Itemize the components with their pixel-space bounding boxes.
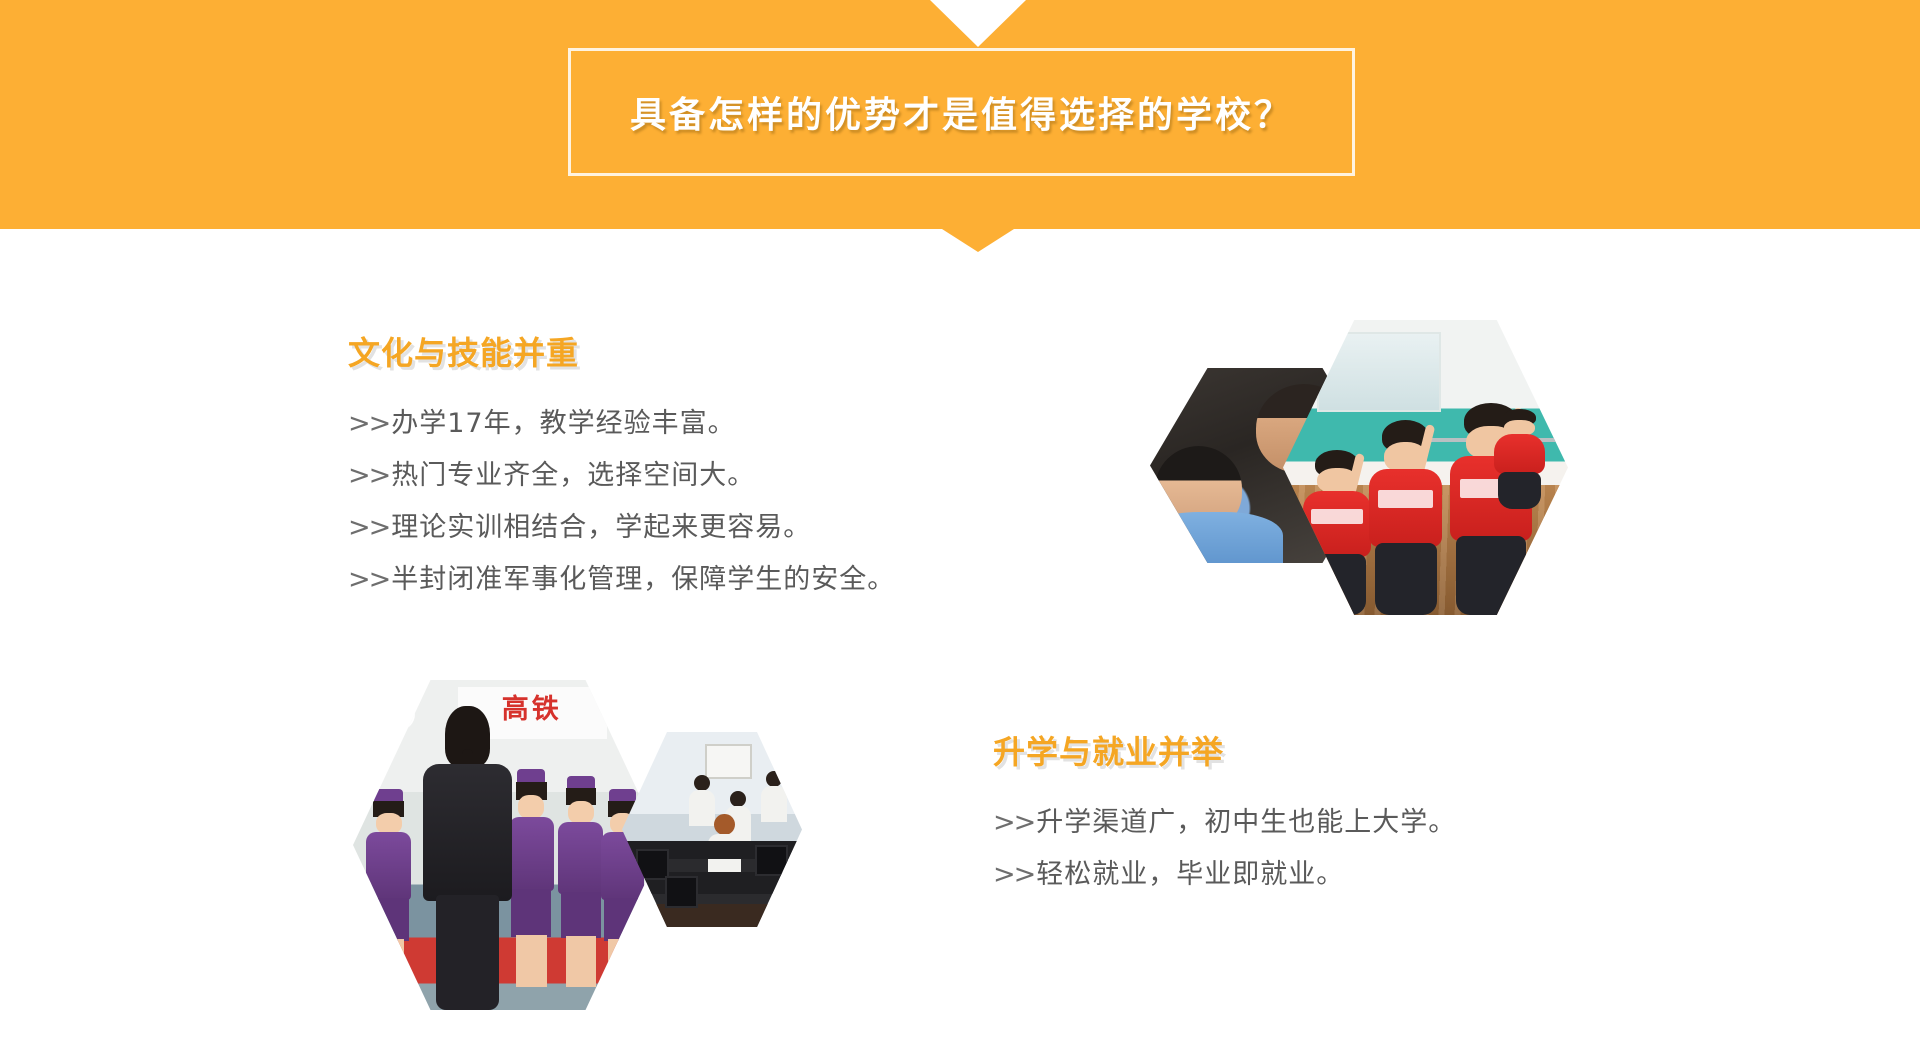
arrow-marker-icon: >> [348,512,389,543]
railway-training-image: 高铁 [353,680,663,1010]
bullet-list-career: >>升学渠道广，初中生也能上大学。 >>轻松就业，毕业即就业。 [993,797,1456,901]
instructor-black-suit [423,764,512,901]
dancer-red-shirt [1494,434,1544,474]
section-heading-culture: 文化与技能并重 [348,328,895,374]
list-item: >>半封闭准军事化管理，保障学生的安全。 [348,554,895,606]
railway-attendant-training-photo: 高铁 [353,680,663,1010]
section-education-and-employment: 升学与就业并举 >>升学渠道广，初中生也能上大学。 >>轻松就业，毕业即就业。 [993,727,1456,901]
student-head [730,791,746,807]
photo-group-dance [1150,300,1570,620]
banner-bottom-arrow-icon [942,229,1014,252]
attendant-face [518,795,544,819]
arrow-marker-icon: >> [348,564,389,595]
attendant-legs [516,935,547,987]
attendant-skirt [604,898,642,942]
shirt-logo [1311,509,1362,524]
section-heading-career: 升学与就业并举 [993,727,1456,773]
header-banner: 具备怎样的优势才是值得选择的学校？ [0,0,1920,229]
dancer-red-shirt [1369,469,1442,547]
shirt-logo [1378,490,1433,508]
dancer-legs [1498,472,1541,509]
computer-lab-photo [622,732,802,927]
dance-class-photo [1283,320,1568,615]
student-blue-shirt [1150,512,1283,563]
student-head [714,814,735,835]
list-item: >>轻松就业，毕业即就业。 [993,849,1456,901]
attendant-legs [608,939,637,987]
attendant-face [376,813,402,835]
instructor-trousers [436,895,499,1010]
list-item-text: 热门专业齐全，选择空间大。 [391,460,755,491]
list-item: >>办学17年，教学经验丰富。 [348,398,895,450]
list-item: >>理论实训相结合，学起来更容易。 [348,502,895,554]
dancer-legs [1375,543,1437,615]
student-head [694,775,710,791]
dance-studio-image [1283,320,1568,615]
list-item: >>热门专业齐全，选择空间大。 [348,450,895,502]
student-head [766,771,782,787]
dancer-legs [1456,536,1526,615]
list-item-text: 升学渠道广，初中生也能上大学。 [1036,807,1456,838]
wall-poster [705,744,752,779]
lab-student [759,771,790,822]
studio-mirror [1317,332,1441,413]
banner-top-notch-icon [930,0,1026,47]
arrow-marker-icon: >> [993,807,1034,838]
instructor-figure [421,706,514,1010]
monitor-screen [665,876,698,907]
dancer-figure-background [1488,409,1551,509]
student-body [761,786,787,821]
list-item-text: 半封闭准军事化管理，保障学生的安全。 [391,564,895,595]
computer-desk [622,904,802,927]
attendant-purple-vest [509,817,554,891]
photo-group-railway: 高铁 [350,680,800,1010]
arrow-marker-icon: >> [348,408,389,439]
list-item-text: 轻松就业，毕业即就业。 [1036,859,1344,890]
list-item: >>升学渠道广，初中生也能上大学。 [993,797,1456,849]
attendant-legs [373,939,404,987]
computer-lab-image [622,732,802,927]
section-culture-and-skills: 文化与技能并重 >>办学17年，教学经验丰富。 >>热门专业齐全，选择空间大。 … [348,328,895,606]
arrow-marker-icon: >> [993,859,1034,890]
school-emblem-icon [381,697,415,731]
attendant-face [568,801,594,824]
attendant-purple-vest [366,832,411,899]
monitor-screen [755,845,788,876]
dancer-figure [1360,420,1451,615]
attendant-figure [359,789,418,987]
page-title: 具备怎样的优势才是值得选择的学校？ [630,86,1293,138]
arrow-marker-icon: >> [348,460,389,491]
attendant-legs [566,936,597,987]
attendant-skirt [369,898,409,942]
list-item-text: 理论实训相结合，学起来更容易。 [391,512,811,543]
title-frame: 具备怎样的优势才是值得选择的学校？ [568,48,1355,176]
dancer-legs [1308,554,1366,615]
bullet-list-culture: >>办学17年，教学经验丰富。 >>热门专业齐全，选择空间大。 >>理论实训相结… [348,398,895,606]
list-item-text: 办学17年，教学经验丰富。 [391,408,735,439]
attendant-skirt [511,889,551,937]
